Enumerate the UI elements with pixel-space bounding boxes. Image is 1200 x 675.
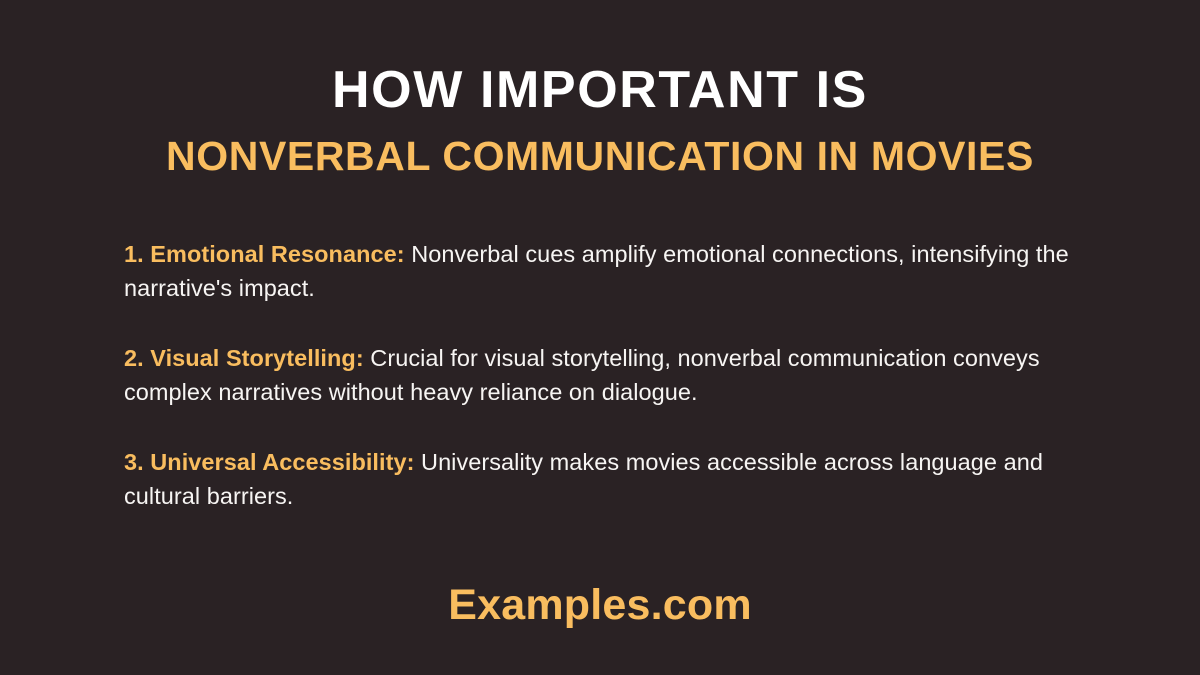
slide-canvas: HOW IMPORTANT IS NONVERBAL COMMUNICATION… (0, 0, 1200, 675)
brand-name: Examples.com (448, 581, 752, 629)
brand-footer: Examples.com (0, 580, 1200, 630)
title-line-primary: HOW IMPORTANT IS (0, 60, 1200, 120)
reason-list: 1. Emotional Resonance: Nonverbal cues a… (124, 237, 1072, 513)
list-item: 3. Universal Accessibility: Universality… (124, 445, 1072, 513)
list-item-label: 3. Universal Accessibility: (124, 449, 414, 475)
list-item: 2. Visual Storytelling: Crucial for visu… (124, 341, 1072, 409)
title-line-highlight: NONVERBAL COMMUNICATION IN MOVIES (0, 132, 1200, 180)
list-item: 1. Emotional Resonance: Nonverbal cues a… (124, 237, 1072, 305)
list-item-label: 2. Visual Storytelling: (124, 345, 364, 371)
page-title: HOW IMPORTANT IS NONVERBAL COMMUNICATION… (0, 60, 1200, 180)
list-item-label: 1. Emotional Resonance: (124, 241, 405, 267)
